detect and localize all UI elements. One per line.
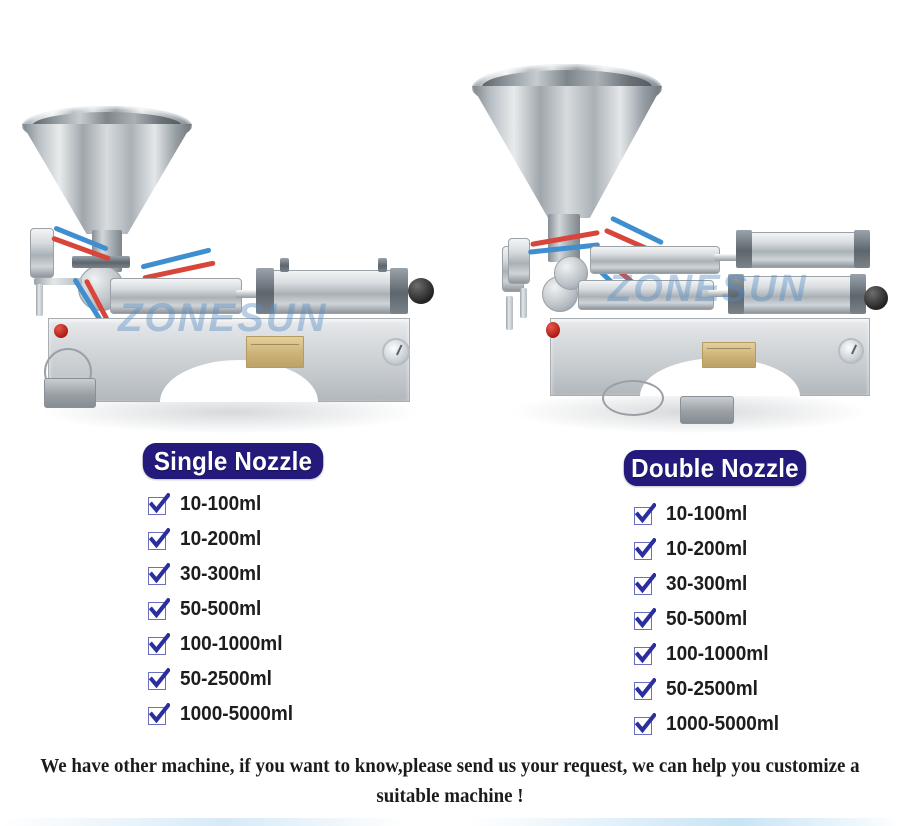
cylinder-fitting-left bbox=[280, 258, 289, 272]
checkbox-checked-icon bbox=[634, 575, 654, 594]
list-item: 50-2500ml bbox=[148, 665, 299, 693]
pressure-gauge bbox=[838, 338, 864, 364]
filling-nozzle-rear bbox=[520, 288, 527, 318]
checkbox-checked-icon bbox=[148, 565, 168, 584]
list-item: 10-100ml bbox=[148, 490, 299, 518]
checkbox-checked-icon bbox=[148, 705, 168, 724]
stroke-adjust-knob bbox=[408, 278, 434, 304]
double-nozzle-machine-image: ZONESUN bbox=[450, 50, 900, 440]
checkbox-checked-icon bbox=[148, 530, 168, 549]
checkbox-checked-icon bbox=[634, 645, 654, 664]
list-item: 1000-5000ml bbox=[148, 700, 299, 728]
cylinder-fitting-right bbox=[378, 258, 387, 272]
hopper-cone bbox=[22, 124, 192, 234]
checkbox-checked-icon bbox=[148, 495, 168, 514]
bottom-gradient-band bbox=[0, 818, 900, 826]
checkbox-checked-icon bbox=[634, 610, 654, 629]
spec-label: 30-300ml bbox=[666, 573, 747, 596]
list-item: 50-2500ml bbox=[634, 675, 785, 703]
spec-label: 50-500ml bbox=[180, 598, 261, 621]
footer-line-1: We have other machine, if you want to kn… bbox=[14, 752, 887, 782]
spec-label: 50-500ml bbox=[666, 608, 747, 631]
machine-nameplate bbox=[702, 342, 756, 368]
spec-label: 100-1000ml bbox=[666, 643, 768, 666]
nozzle-cylinder-rear bbox=[508, 238, 530, 284]
footer-message: We have other machine, if you want to kn… bbox=[14, 752, 887, 812]
filling-nozzle-front bbox=[506, 296, 513, 330]
cylinder-cap-rear-left bbox=[736, 230, 752, 268]
emergency-stop-button bbox=[546, 322, 560, 338]
list-item: 100-1000ml bbox=[634, 640, 785, 668]
emergency-stop-button bbox=[54, 324, 68, 338]
footer-line-2: suitable machine ! bbox=[14, 782, 887, 812]
stroke-adjust-knob bbox=[864, 286, 888, 310]
list-item: 10-200ml bbox=[634, 535, 785, 563]
spec-label: 100-1000ml bbox=[180, 633, 282, 656]
spec-label: 10-200ml bbox=[180, 528, 261, 551]
brand-watermark: ZONESUN bbox=[118, 296, 328, 341]
spec-label: 10-100ml bbox=[666, 503, 747, 526]
double-nozzle-badge: Double Nozzle bbox=[624, 450, 806, 486]
list-item: 50-500ml bbox=[634, 605, 785, 633]
list-item: 30-300ml bbox=[148, 560, 299, 588]
spec-label: 10-200ml bbox=[666, 538, 747, 561]
nozzle-cylinder bbox=[30, 228, 54, 278]
foot-pedal bbox=[44, 378, 96, 408]
checkbox-checked-icon bbox=[634, 540, 654, 559]
pedal-cable bbox=[602, 380, 664, 416]
spec-label: 50-2500ml bbox=[180, 668, 272, 691]
spec-label: 50-2500ml bbox=[666, 678, 758, 701]
product-feature-banner: ZONESUN bbox=[0, 0, 900, 826]
spec-label: 30-300ml bbox=[180, 563, 261, 586]
double-nozzle-badge-label: Double Nozzle bbox=[631, 453, 799, 484]
main-pneumatic-cylinder-rear bbox=[738, 232, 870, 268]
cylinder-end-cap-right bbox=[390, 268, 408, 314]
checkbox-checked-icon bbox=[634, 715, 654, 734]
cylinder-cap-rear-right bbox=[854, 230, 870, 268]
spec-label: 1000-5000ml bbox=[180, 703, 293, 726]
checkbox-checked-icon bbox=[634, 505, 654, 524]
list-item: 50-500ml bbox=[148, 595, 299, 623]
single-nozzle-machine-image: ZONESUN bbox=[0, 60, 450, 440]
spec-label: 10-100ml bbox=[180, 493, 261, 516]
checkbox-checked-icon bbox=[634, 680, 654, 699]
list-item: 10-200ml bbox=[148, 525, 299, 553]
spec-label: 1000-5000ml bbox=[666, 713, 779, 736]
nozzle-drop-tube bbox=[36, 284, 43, 316]
checkbox-checked-icon bbox=[148, 635, 168, 654]
single-nozzle-spec-list: 10-100ml 10-200ml 30-300ml 50-500ml bbox=[148, 490, 299, 735]
foot-pedal bbox=[680, 396, 734, 424]
hopper-cone bbox=[472, 86, 662, 218]
checkbox-checked-icon bbox=[148, 670, 168, 689]
list-item: 1000-5000ml bbox=[634, 710, 785, 738]
double-nozzle-spec-list: 10-100ml 10-200ml 30-300ml 50-500ml bbox=[634, 500, 785, 745]
pressure-gauge bbox=[382, 338, 410, 366]
list-item: 100-1000ml bbox=[148, 630, 299, 658]
checkbox-checked-icon bbox=[148, 600, 168, 619]
list-item: 10-100ml bbox=[634, 500, 785, 528]
single-nozzle-badge-label: Single Nozzle bbox=[154, 446, 312, 477]
list-item: 30-300ml bbox=[634, 570, 785, 598]
single-nozzle-badge: Single Nozzle bbox=[143, 443, 323, 479]
brand-watermark: ZONESUN bbox=[608, 268, 808, 311]
